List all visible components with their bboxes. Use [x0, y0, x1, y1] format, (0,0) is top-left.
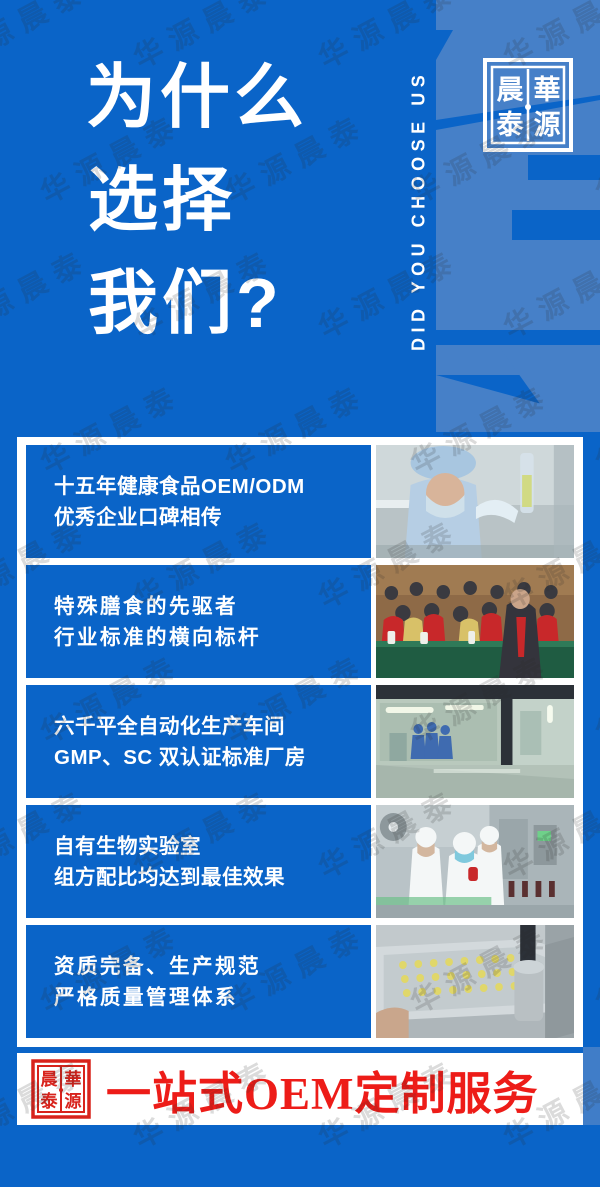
footer-slogan: 一站式OEM定制服务 — [106, 1057, 539, 1122]
photo-packaging-line — [376, 805, 574, 918]
feature-line: 组方配比均达到最佳效果 — [54, 862, 371, 893]
feature-line: 十五年健康食品OEM/ODM — [54, 471, 371, 502]
title-line-3: 我们? — [88, 252, 386, 355]
seal-char-3: 泰 — [497, 110, 525, 140]
seal-char-2: 華 — [534, 75, 561, 105]
seal-char-3: 泰 — [41, 1091, 59, 1111]
feature-line: 优秀企业口碑相传 — [54, 502, 371, 533]
poster-header: 为什么 选择 我们? DID YOU CHOOSE US 晨 華 泰 源 — [0, 0, 600, 432]
feature-line: 资质完备、生产规范 — [54, 951, 371, 982]
feature-line: GMP、SC 双认证标准厂房 — [54, 742, 371, 773]
feature-line: 行业标准的横向标杆 — [54, 622, 371, 653]
seal-char-1: 晨 — [41, 1070, 59, 1089]
feature-card-2[interactable]: 特殊膳食的先驱者 行业标准的横向标杆 — [26, 565, 371, 678]
feature-card-5[interactable]: 资质完备、生产规范 严格质量管理体系 — [26, 925, 371, 1038]
feature-row: 特殊膳食的先驱者 行业标准的横向标杆 — [26, 565, 574, 678]
footer-banner: 晨 華 泰 源 一站式OEM定制服务 — [17, 1053, 583, 1125]
page-title: 为什么 选择 我们? — [86, 46, 386, 355]
seal-char-2: 華 — [65, 1070, 82, 1089]
brand-seal-red-icon: 晨 華 泰 源 — [30, 1058, 92, 1120]
feature-row: 六千平全自动化生产车间 GMP、SC 双认证标准厂房 — [26, 685, 574, 798]
feature-card-1[interactable]: 十五年健康食品OEM/ODM 优秀企业口碑相传 — [26, 445, 371, 558]
feature-line: 六千平全自动化生产车间 — [54, 711, 371, 742]
title-line-2: 选择 — [88, 149, 386, 252]
photo-lab-technician — [376, 445, 574, 558]
features-panel: 十五年健康食品OEM/ODM 优秀企业口碑相传 特殊膳 — [17, 437, 583, 1047]
brand-seal-icon: 晨 華 泰 源 — [480, 55, 576, 155]
feature-line: 特殊膳食的先驱者 — [54, 591, 371, 622]
photo-tablet-machine — [376, 925, 574, 1038]
title-line-1: 为什么 — [86, 46, 386, 149]
photo-conference-audience — [376, 565, 574, 678]
feature-row: 自有生物实验室 组方配比均达到最佳效果 — [26, 805, 574, 918]
feature-card-4[interactable]: 自有生物实验室 组方配比均达到最佳效果 — [26, 805, 371, 918]
feature-line: 自有生物实验室 — [54, 831, 371, 862]
seal-char-4: 源 — [534, 110, 561, 140]
feature-card-3[interactable]: 六千平全自动化生产车间 GMP、SC 双认证标准厂房 — [26, 685, 371, 798]
photo-production-workshop — [376, 685, 574, 798]
seal-char-1: 晨 — [497, 75, 525, 105]
vertical-slogan: DID YOU CHOOSE US — [402, 14, 436, 406]
feature-row: 资质完备、生产规范 严格质量管理体系 — [26, 925, 574, 1038]
seal-char-4: 源 — [65, 1091, 82, 1111]
feature-row: 十五年健康食品OEM/ODM 优秀企业口碑相传 — [26, 445, 574, 558]
feature-line: 严格质量管理体系 — [54, 982, 371, 1013]
